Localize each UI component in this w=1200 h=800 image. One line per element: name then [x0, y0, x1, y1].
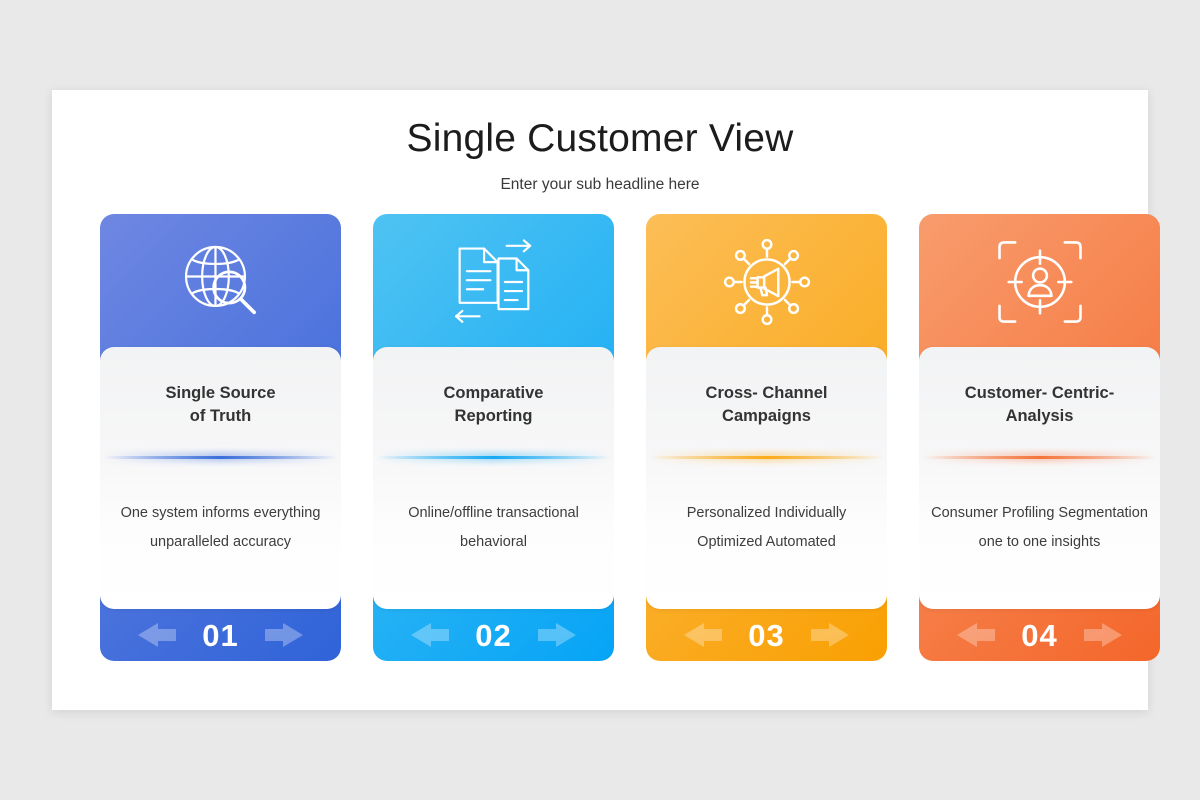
- card-footer: 03: [646, 609, 887, 661]
- feature-card[interactable]: Cross- Channel Campaigns Personalized In…: [646, 214, 887, 661]
- card-inner-panel: Single Source of Truth One system inform…: [100, 347, 341, 609]
- card-divider: [650, 452, 883, 462]
- card-footer: 02: [373, 609, 614, 661]
- card-icon-area: [919, 214, 1160, 350]
- card-inner-panel: Cross- Channel Campaigns Personalized In…: [646, 347, 887, 609]
- card-number: 03: [748, 620, 784, 651]
- slide-header: Single Customer View Enter your sub head…: [52, 90, 1148, 194]
- footer-arrow-left-icon: [660, 623, 722, 647]
- globe-search-icon: [175, 236, 267, 328]
- footer-arrow-right-icon: [1084, 623, 1146, 647]
- feature-card[interactable]: Comparative Reporting Online/offline tra…: [373, 214, 614, 661]
- card-list: Single Source of Truth One system inform…: [100, 214, 1102, 661]
- card-title: Customer- Centric- Analysis: [935, 382, 1145, 429]
- feature-card[interactable]: Single Source of Truth One system inform…: [100, 214, 341, 661]
- card-title-line2: Analysis: [1006, 407, 1074, 425]
- card-inner-panel: Customer- Centric- Analysis Consumer Pro…: [919, 347, 1160, 609]
- card-description: Personalized Individually Optimized Auto…: [658, 499, 876, 556]
- footer-arrow-left-icon: [933, 623, 995, 647]
- card-description: Consumer Profiling Segmentation one to o…: [931, 499, 1149, 556]
- card-title: Comparative Reporting: [389, 382, 599, 429]
- card-footer: 01: [100, 609, 341, 661]
- card-divider: [923, 452, 1156, 462]
- page-subtitle: Enter your sub headline here: [52, 176, 1148, 194]
- card-description: Online/offline transactional behavioral: [385, 499, 603, 556]
- card-title: Single Source of Truth: [116, 382, 326, 429]
- footer-arrow-left-icon: [387, 623, 449, 647]
- card-divider: [377, 452, 610, 462]
- card-inner-panel: Comparative Reporting Online/offline tra…: [373, 347, 614, 609]
- footer-arrow-left-icon: [114, 623, 176, 647]
- card-divider: [104, 452, 337, 462]
- feature-card[interactable]: Customer- Centric- Analysis Consumer Pro…: [919, 214, 1160, 661]
- card-icon-area: [646, 214, 887, 350]
- card-icon-area: [373, 214, 614, 350]
- card-footer: 04: [919, 609, 1160, 661]
- card-title-line2: of Truth: [190, 407, 251, 425]
- card-title-line1: Customer- Centric-: [965, 384, 1114, 402]
- card-title-line1: Cross- Channel: [706, 384, 828, 402]
- card-title-line1: Single Source: [165, 384, 275, 402]
- slide-panel: Single Customer View Enter your sub head…: [52, 90, 1148, 710]
- card-number: 01: [202, 620, 238, 651]
- card-title-line1: Comparative: [444, 384, 544, 402]
- card-title-line2: Reporting: [455, 407, 533, 425]
- card-title: Cross- Channel Campaigns: [662, 382, 872, 429]
- megaphone-network-icon: [720, 235, 814, 329]
- card-description: One system informs everything unparallel…: [112, 499, 330, 556]
- documents-transfer-icon: [447, 236, 541, 328]
- card-number: 04: [1021, 620, 1057, 651]
- page-title: Single Customer View: [52, 118, 1148, 161]
- card-number: 02: [475, 620, 511, 651]
- footer-arrow-right-icon: [538, 623, 600, 647]
- footer-arrow-right-icon: [265, 623, 327, 647]
- card-icon-area: [100, 214, 341, 350]
- card-title-line2: Campaigns: [722, 407, 811, 425]
- footer-arrow-right-icon: [811, 623, 873, 647]
- target-person-icon: [994, 236, 1086, 328]
